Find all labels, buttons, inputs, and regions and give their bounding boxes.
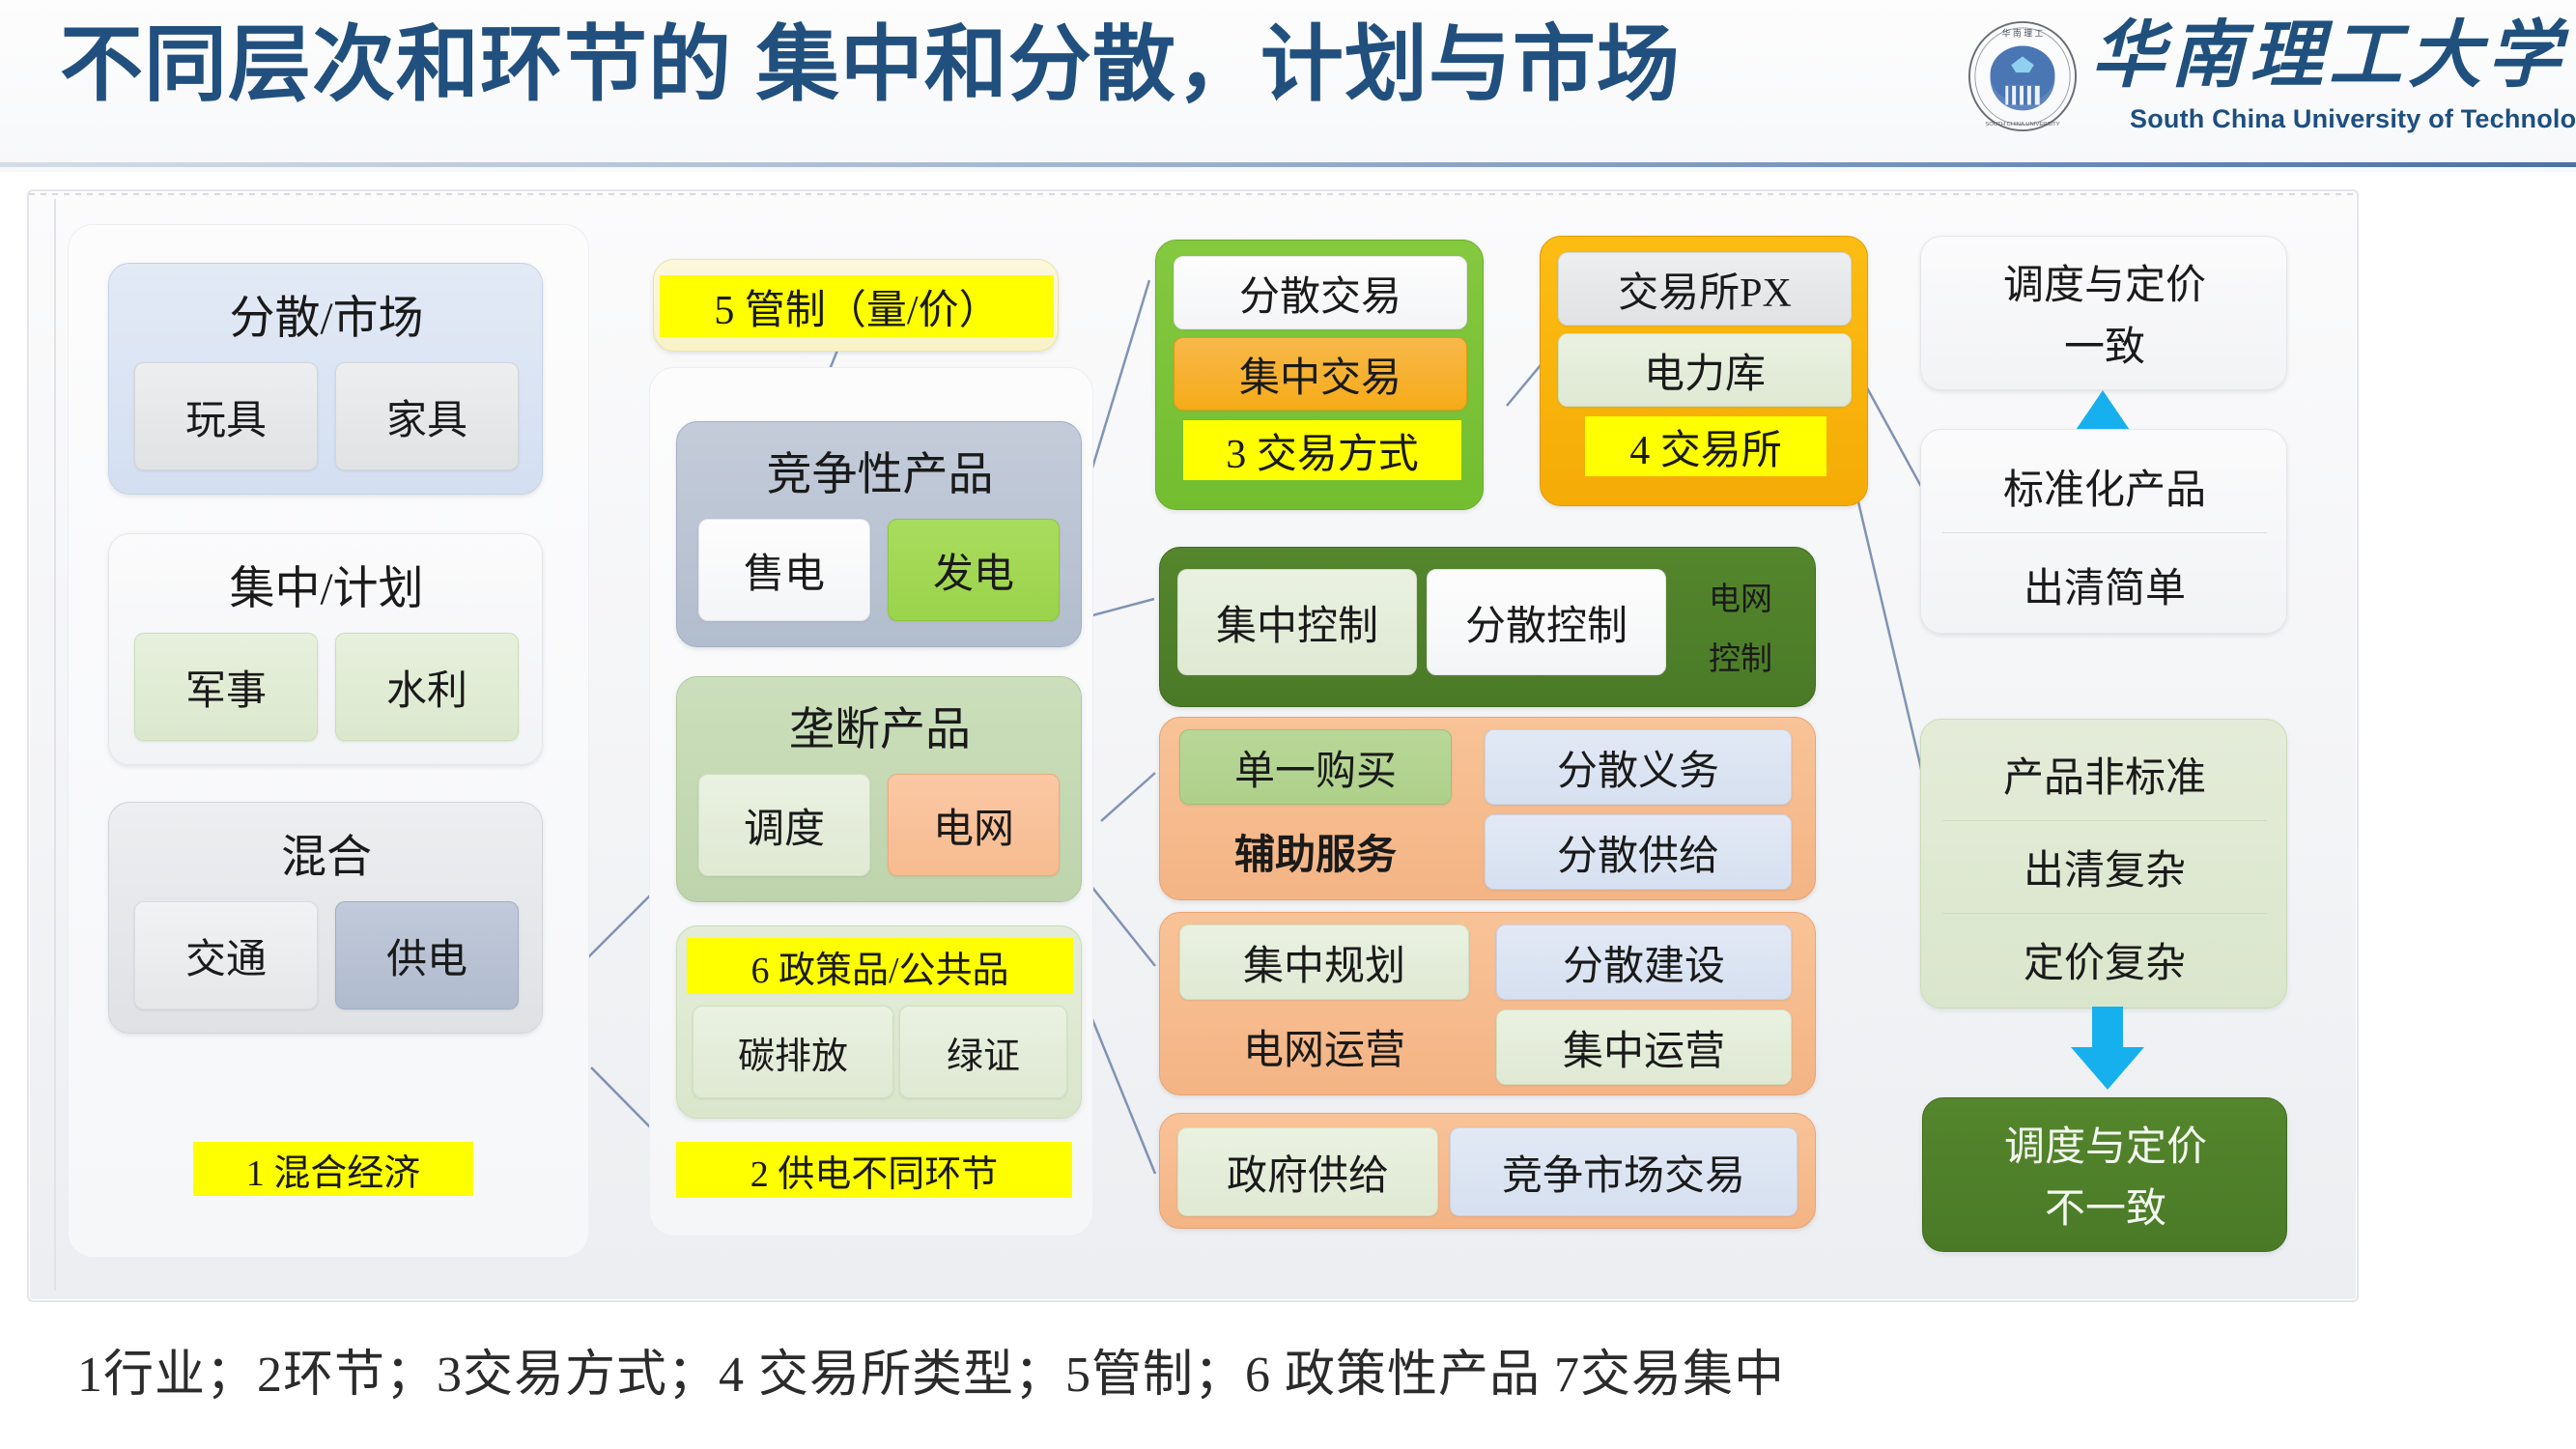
box-ancillary-services[interactable]: 单一购买 分散义务 辅助服务 分散供给 (1159, 717, 1816, 900)
chip-green-certificate[interactable]: 绿证 (899, 1006, 1067, 1098)
chip-military[interactable]: 军事 (134, 633, 318, 741)
box-dispatch-pricing-consistent[interactable]: 调度与定价 一致 (1920, 236, 2287, 390)
box-grid-operation[interactable]: 集中规划 分散建设 电网运营 集中运营 (1159, 912, 1816, 1095)
chip-centralized-control[interactable]: 集中控制 (1177, 569, 1417, 675)
divider (1942, 820, 2267, 821)
box-trading-mode[interactable]: 分散交易 集中交易 3 交易方式 (1155, 240, 1484, 510)
box-complex-outcomes[interactable]: 产品非标准 出清复杂 定价复杂 (1920, 719, 2287, 1009)
item-standardized-product: 标准化产品 (1921, 441, 2288, 530)
arrow-down-icon (2067, 1007, 2148, 1092)
group-title: 分散/市场 (109, 277, 544, 349)
grid-control-label-line2: 控制 (1678, 627, 1803, 685)
chip-transport[interactable]: 交通 (134, 901, 318, 1009)
tag-regulation: 5 管制（量/价） (660, 275, 1054, 337)
slide-header: 不同层次和环节的 集中和分散，计划与市场 华 南 理 工 SOUTH CHINA… (0, 0, 2576, 172)
item-complex-pricing: 定价复杂 (1921, 915, 2288, 1004)
chip-decentralized-control[interactable]: 分散控制 (1427, 569, 1666, 675)
group-title: 垄断产品 (677, 689, 1083, 760)
box-dispatch-pricing-inconsistent[interactable]: 调度与定价 不一致 (1922, 1097, 2287, 1252)
chip-centralized-planning[interactable]: 集中规划 (1179, 924, 1469, 1000)
inconsistent-line1: 调度与定价 (1923, 1112, 2288, 1174)
chip-centralized-trading[interactable]: 集中交易 (1174, 337, 1467, 411)
chip-single-buyer[interactable]: 单一购买 (1179, 729, 1452, 805)
chip-centralized-operation[interactable]: 集中运营 (1496, 1009, 1792, 1085)
group-mixed[interactable]: 混合 交通 供电 (108, 802, 543, 1034)
box-grid-control[interactable]: 集中控制 分散控制 电网 控制 (1159, 547, 1816, 707)
chip-carbon-emission[interactable]: 碳排放 (693, 1006, 893, 1098)
inconsistent-line2: 不一致 (1923, 1174, 2288, 1236)
logo-chinese-name: 华南理工大学 (2091, 10, 2566, 102)
group-title: 竞争性产品 (677, 434, 1083, 505)
box-simple-outcomes[interactable]: 标准化产品 出清简单 (1920, 429, 2287, 634)
tag-trading-mode: 3 交易方式 (1183, 420, 1461, 480)
chip-power-generation[interactable]: 发电 (888, 519, 1060, 621)
university-logo: 华 南 理 工 SOUTH CHINA UNIVERSITY 华南理工大学 So… (1966, 8, 2564, 148)
group-centralized-plan[interactable]: 集中/计划 军事 水利 (108, 533, 543, 765)
item-simple-clearing: 出清简单 (1921, 540, 2288, 629)
frame-dotted-border (29, 193, 2353, 195)
consistent-line1: 调度与定价 (1921, 250, 2288, 312)
group-title: 集中/计划 (109, 548, 544, 619)
logo-english-name: South China University of Technology (2130, 104, 2576, 134)
tag-power-supply-links: 2 供电不同环节 (676, 1142, 1072, 1198)
chip-government-supply[interactable]: 政府供给 (1177, 1127, 1438, 1216)
chip-exchange-px[interactable]: 交易所PX (1558, 252, 1852, 326)
ancillary-services-label: 辅助服务 (1179, 814, 1452, 888)
chip-competitive-market-trading[interactable]: 竞争市场交易 (1450, 1127, 1798, 1216)
grid-operation-label: 电网运营 (1179, 1009, 1469, 1083)
chip-decentralized-construction[interactable]: 分散建设 (1496, 924, 1792, 1000)
chip-electricity-retail[interactable]: 售电 (698, 519, 870, 621)
chip-toy[interactable]: 玩具 (134, 362, 318, 470)
chip-decentralized-obligation[interactable]: 分散义务 (1485, 729, 1792, 805)
chip-decentralized-supply[interactable]: 分散供给 (1485, 814, 1792, 890)
header-divider (0, 162, 2576, 167)
group-competitive-products[interactable]: 竞争性产品 售电 发电 (676, 421, 1082, 647)
chip-dispatch[interactable]: 调度 (698, 774, 870, 876)
item-complex-clearing: 出清复杂 (1921, 822, 2288, 911)
divider (1942, 532, 2267, 533)
chip-water-conservancy[interactable]: 水利 (335, 633, 519, 741)
university-seal-icon: 华 南 理 工 SOUTH CHINA UNIVERSITY (1966, 19, 2080, 133)
group-monopoly-products[interactable]: 垄断产品 调度 电网 (676, 676, 1082, 902)
group-policy-public-goods[interactable]: 6 政策品/公共品 碳排放 绿证 (676, 925, 1082, 1119)
chip-power-pool[interactable]: 电力库 (1558, 333, 1852, 407)
chip-power-supply[interactable]: 供电 (335, 901, 519, 1009)
group-title: 混合 (109, 816, 544, 888)
box-government-supply[interactable]: 政府供给 竞争市场交易 (1159, 1113, 1816, 1229)
divider (1942, 913, 2267, 914)
frame-left-rule (54, 199, 56, 1291)
group-decentralized-market[interactable]: 分散/市场 玩具 家具 (108, 263, 543, 495)
chip-power-grid[interactable]: 电网 (888, 774, 1060, 876)
chip-decentralized-trading[interactable]: 分散交易 (1174, 256, 1467, 329)
svg-text:SOUTH CHINA UNIVERSITY: SOUTH CHINA UNIVERSITY (1985, 122, 2059, 128)
consistent-line2: 一致 (1921, 312, 2288, 374)
box-exchange[interactable]: 交易所PX 电力库 4 交易所 (1540, 236, 1868, 506)
chip-furniture[interactable]: 家具 (335, 362, 519, 470)
tag-policy-goods: 6 政策品/公共品 (687, 938, 1073, 994)
legend-text: 1行业；2环节；3交易方式；4 交易所类型；5管制；6 政策性产品 7交易集中 (77, 1325, 2395, 1412)
tag-mixed-economy: 1 混合经济 (193, 1142, 473, 1196)
page-title: 不同层次和环节的 集中和分散，计划与市场 (60, 8, 1681, 122)
item-nonstandard-product: 产品非标准 (1921, 729, 2288, 818)
svg-text:华 南 理 工: 华 南 理 工 (2002, 28, 2044, 39)
tag-exchange: 4 交易所 (1585, 416, 1826, 476)
box-regulation[interactable]: 5 管制（量/价） (653, 259, 1059, 352)
grid-control-label-line1: 电网 (1678, 567, 1803, 625)
